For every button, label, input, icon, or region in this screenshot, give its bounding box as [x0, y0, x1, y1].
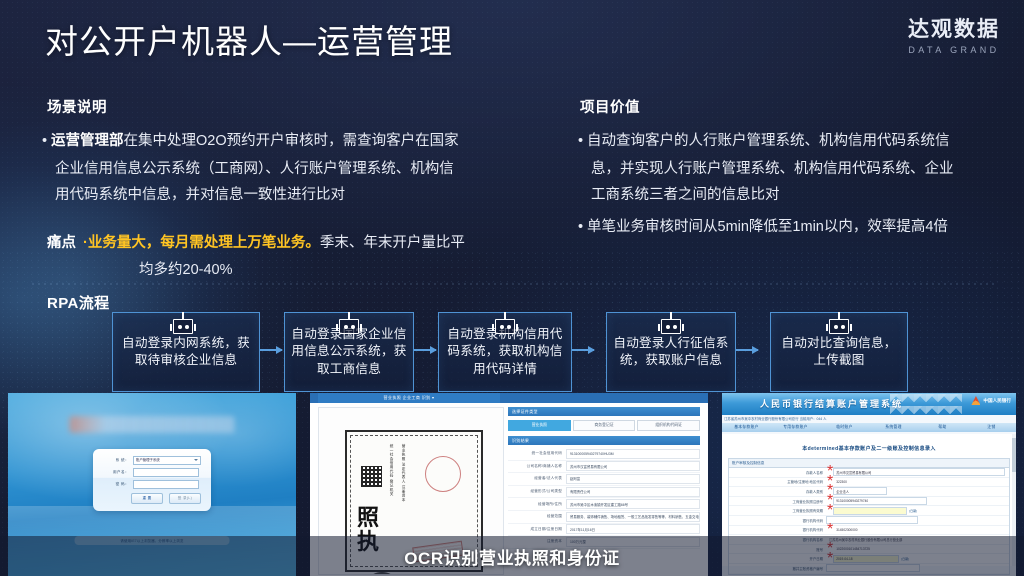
login-system-banner	[70, 416, 235, 433]
pboc-form-row: 存款人类别*企业法人	[729, 487, 1009, 497]
ocr-field-value[interactable]: 贸易服务、装饰辅件销售、场地租赁、一般工艺品批发零售等等、材料销售、五金交电等	[566, 512, 700, 522]
pboc-field-input[interactable]: 苏州市汉富贸易有限公司	[833, 468, 1005, 476]
pboc-field-readonly: 314502300000	[833, 528, 857, 532]
tab-business-license[interactable]: 营业执照	[508, 420, 571, 431]
nav-logout[interactable]: 注销	[967, 423, 1016, 432]
pboc-form-row: 工商营业执照有效期*[日期]	[729, 506, 1009, 516]
ocr-doc-type-tabs: 营业执照 商务登记证 组织机构代码证	[508, 420, 700, 431]
bullet-dot: •	[578, 128, 587, 154]
login-input-password[interactable]	[133, 480, 199, 489]
pboc-field-select[interactable]: 企业法人	[833, 487, 887, 495]
login-row-password: 密 码：	[103, 480, 199, 488]
pboc-bank-logo: 中国人民银行	[971, 396, 1011, 405]
flow-arrow-2	[414, 349, 436, 351]
ocr-section-select-type: 选择证件类型	[508, 407, 700, 416]
login-submit-button[interactable]: 登 录(L)	[169, 493, 201, 504]
license-vertical-text-a: 统一社会信用代码 登记机关	[389, 444, 395, 504]
bullet-dot: •	[42, 128, 51, 154]
pboc-header: 人民币银行结算账户管理系统 中国人民银行	[722, 393, 1016, 415]
pain-point-line2: 均多约20-40%	[139, 257, 587, 284]
pboc-form-row: 工商营业执照注册号*913100005940279740	[729, 497, 1009, 507]
nav-help[interactable]: 帮助	[918, 423, 967, 432]
scenario-body: •运营管理部在集中处理O2O预约开户审核时，需查询客户在国家 企业信用信息公示系…	[42, 128, 562, 208]
login-label-password: 密 码：	[103, 482, 129, 487]
license-seal-icon	[425, 456, 461, 492]
pboc-nav-bar: 基本存款账户 专用存款账户 临时账户 系统管理 帮助 注销	[722, 423, 1016, 432]
robot-icon	[490, 312, 520, 342]
qr-code-icon	[361, 466, 382, 487]
pboc-form-row: 主管地/注册地 地区代码*322300	[729, 478, 1009, 488]
brand-logo: 达观数据 DATA GRAND	[908, 18, 1000, 55]
pain-point-label: 痛点	[47, 235, 76, 251]
pboc-field-label: 工商营业执照注册号	[729, 499, 826, 504]
ocr-field-key: 经营范围	[508, 514, 566, 519]
flow-node-1[interactable]: 自动登录内网系统，获取待审核企业信息	[112, 312, 260, 392]
ocr-field-key: 成立日期/注册日期	[508, 527, 566, 532]
value-item-1-cont-a: 息，并实现人行账户管理系统、机构信用代码系统、企业	[591, 156, 1008, 182]
pboc-field-date[interactable]	[833, 507, 907, 515]
robot-icon	[656, 312, 686, 342]
screenshot-caption: OCR识别营业执照和身份证	[0, 536, 1024, 576]
ocr-field-value[interactable]: 2017年11月16日	[566, 524, 700, 534]
login-input-username[interactable]	[133, 468, 199, 477]
ocr-field-row: 经营形式/公司类型有限责任公司	[508, 486, 700, 499]
pboc-field-label: 工商营业执照有效期	[729, 508, 826, 513]
login-reset-button[interactable]: 重 置	[131, 493, 163, 504]
logo-english: DATA GRAND	[908, 45, 1000, 55]
tab-commerce-registration[interactable]: 商务登记证	[573, 420, 636, 431]
logo-chinese: 达观数据	[908, 18, 1000, 41]
scenario-line-2: 企业信用信息公示系统（工商网）、人行账户管理系统、机构信	[55, 156, 562, 182]
value-heading: 项目价值	[580, 96, 640, 117]
ocr-field-key: 经营者/法人代表	[508, 476, 566, 481]
pboc-form-row: 存款人名称*苏州市汉富贸易有限公司	[729, 468, 1009, 478]
ocr-section-result: 识别结果	[508, 436, 700, 445]
scenario-lead-rest: 在集中处理O2O预约开户审核时，需查询客户在国家	[124, 133, 459, 149]
pboc-field-label: 存款人类别	[729, 489, 826, 494]
robot-icon	[334, 312, 364, 342]
slide-root: 对公开户机器人—运营管理 达观数据 DATA GRAND 场景说明 •运营管理部…	[0, 0, 1024, 576]
pboc-group-header: 账户审核及控制信息	[729, 459, 1009, 468]
calendar-icon[interactable]: [日期]	[909, 509, 917, 513]
ocr-field-value[interactable]: 913100005940279740HU3M	[566, 449, 700, 459]
ocr-field-value[interactable]: 苏州市吴中区木渎镇开发区建工路66号	[566, 499, 700, 509]
license-vertical-text-b: 营业执照 法定代表人 注册资本	[401, 444, 407, 514]
pboc-system-title: 人民币银行结算账户管理系统	[760, 397, 903, 410]
value-item-2: •单笔业务审核时间从5min降低至1min以内，效率提高4倍	[578, 214, 1008, 240]
pain-point-block: 痛点·业务量大，每月需处理上万笔业务。季末、年末开户量比平 均多约20-40%	[47, 230, 587, 284]
value-item-1-cont-b: 工商系统三者之间的信息比对	[591, 182, 1008, 208]
ocr-field-row: 统一社会信用代码913100005940279740HU3M	[508, 448, 700, 461]
value-body: •自动查询客户的人行账户管理系统、机构信用代码系统信 息，并实现人行账户管理系统…	[578, 128, 1008, 242]
ocr-field-key: 公司名称/商铺人名称	[508, 464, 566, 469]
login-card: 系 统： 账户管理子系统 用户名： 密 码： 重 置 登 录(L)	[93, 449, 211, 511]
ocr-field-row: 经营范围贸易服务、装饰辅件销售、场地租赁、一般工艺品批发零售等等、材料销售、五金…	[508, 511, 700, 524]
pboc-field-label: 银行机构代码	[729, 518, 826, 523]
ocr-field-key: 经营场所/住所	[508, 502, 566, 507]
flow-node-3[interactable]: 自动登录机构信用代码系统，获取机构信用代码详情	[438, 312, 572, 392]
value-item-1: •自动查询客户的人行账户管理系统、机构信用代码系统信	[578, 128, 1008, 154]
scenario-heading: 场景说明	[47, 96, 107, 117]
ocr-field-key: 经营形式/公司类型	[508, 489, 566, 494]
pboc-field-label: 存款人名称	[729, 470, 826, 475]
ocr-toolbar-label[interactable]: 营业执照 企业工商 识别 ▾	[318, 393, 500, 403]
ocr-field-row: 公司名称/商铺人名称苏州市汉富贸易有限公司	[508, 461, 700, 474]
rpa-flow-diagram: 自动登录内网系统，获取待审核企业信息 自动登录国家企业信用信息公示系统，获取工商…	[0, 282, 1024, 402]
login-select-system[interactable]: 账户管理子系统	[133, 456, 201, 465]
ocr-field-value[interactable]: 苏州市汉富贸易有限公司	[566, 461, 700, 471]
flow-node-2[interactable]: 自动登录国家企业信用信息公示系统，获取工商信息	[284, 312, 414, 392]
ocr-field-value[interactable]: 有限责任公司	[566, 487, 700, 497]
pain-point-rest: 季末、年末开户量比平	[320, 235, 465, 251]
scenario-line-3: 用代码系统中信息，并对信息一致性进行比对	[55, 182, 562, 208]
ocr-field-row: 经营者/法人代表赵阿富	[508, 473, 700, 486]
flow-node-5[interactable]: 自动对比查询信息，上传截图	[770, 312, 908, 392]
pboc-field-label: 主管地/注册地 地区代码	[729, 479, 826, 484]
nav-special-deposit[interactable]: 专用存款账户	[771, 423, 820, 432]
value-item-2-text: 单笔业务审核时间从5min降低至1min以内，效率提高4倍	[587, 219, 948, 235]
pboc-page-title: 本determined基本存款账户及二一级账及控制信息录入	[722, 445, 1016, 452]
pboc-form-row: 银行机构代码*314502300000	[729, 526, 1009, 536]
pboc-field-label: 银行机构代码	[729, 527, 826, 532]
robot-icon	[168, 312, 198, 342]
pboc-field-input[interactable]	[826, 516, 918, 524]
flow-arrow-4	[736, 349, 758, 351]
value-item-1-text: 自动查询客户的人行账户管理系统、机构信用代码系统信	[587, 133, 950, 149]
ocr-field-row: 经营场所/住所苏州市吴中区木渎镇开发区建工路66号	[508, 498, 700, 511]
login-buttons: 重 置 登 录(L)	[131, 493, 201, 504]
flow-arrow-3	[572, 349, 594, 351]
tab-org-code-cert[interactable]: 组织机构代码证	[637, 420, 700, 431]
ocr-field-value[interactable]: 赵阿富	[566, 474, 700, 484]
pain-point-highlight: ·业务量大，每月需处理上万笔业务。	[83, 235, 320, 251]
pboc-field-readonly: 322300	[833, 480, 847, 484]
pboc-breadcrumb: 江苏省苏州市吴中农村商业银行股份有限公司总行 当前用户：044 人	[724, 416, 826, 421]
ocr-field-row: 成立日期/注册日期2017年11月16日	[508, 524, 700, 537]
scenario-line-1: •运营管理部在集中处理O2O预约开户审核时，需查询客户在国家	[42, 128, 562, 154]
ocr-field-key: 统一社会信用代码	[508, 451, 566, 456]
page-title: 对公开户机器人—运营管理	[45, 22, 453, 62]
keyboard-graphic	[890, 394, 962, 415]
nav-temp-account[interactable]: 临时账户	[820, 423, 869, 432]
pboc-bank-name: 中国人民银行	[983, 398, 1011, 404]
pboc-field-input[interactable]: 913100005940279740	[833, 497, 927, 505]
pboc-form-row: 银行机构代码	[729, 516, 1009, 526]
robot-icon	[824, 312, 854, 342]
scenario-bold-lead: 运营管理部	[51, 133, 124, 149]
login-label-username: 用户名：	[103, 470, 129, 475]
flow-arrow-1	[260, 349, 282, 351]
login-label-system: 系 统：	[103, 458, 129, 463]
ocr-result-fields: 统一社会信用代码913100005940279740HU3M 公司名称/商铺人名…	[508, 448, 700, 549]
nav-system-admin[interactable]: 系统管理	[869, 423, 918, 432]
login-row-system: 系 统： 账户管理子系统	[103, 456, 201, 464]
pboc-logo-mark-icon	[971, 396, 980, 405]
nav-basic-deposit[interactable]: 基本存款账户	[722, 423, 771, 432]
scrollbar-thumb	[1012, 438, 1016, 472]
flow-node-4[interactable]: 自动登录人行征信系统，获取账户信息	[606, 312, 736, 392]
login-row-username: 用户名：	[103, 468, 199, 476]
